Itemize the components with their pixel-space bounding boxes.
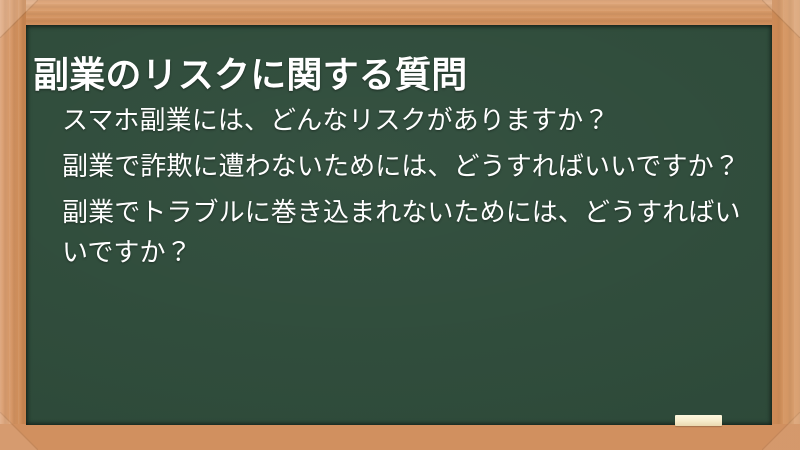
chalk-stick-icon	[675, 415, 722, 426]
list-item: スマホ副業には、どんなリスクがありますか？	[62, 101, 752, 141]
chalkboard-surface: 副業のリスクに関する質問 スマホ副業には、どんなリスクがありますか？ 副業で詐欺…	[26, 25, 772, 425]
page-title: 副業のリスクに関する質問	[33, 53, 745, 98]
question-list: スマホ副業には、どんなリスクがありますか？ 副業で詐欺に遭わないためには、どうす…	[62, 101, 752, 279]
frame-top-rail	[0, 0, 800, 25]
list-item: 副業で詐欺に遭わないためには、どうすればいいですか？	[62, 147, 752, 187]
frame-right-rail	[772, 0, 800, 450]
frame-bottom-ledge	[0, 424, 800, 450]
list-item: 副業でトラブルに巻き込まれないためには、どうすればいいですか？	[62, 193, 752, 273]
frame-left-rail	[0, 0, 26, 450]
chalkboard-slide: 副業のリスクに関する質問 スマホ副業には、どんなリスクがありますか？ 副業で詐欺…	[0, 0, 800, 450]
